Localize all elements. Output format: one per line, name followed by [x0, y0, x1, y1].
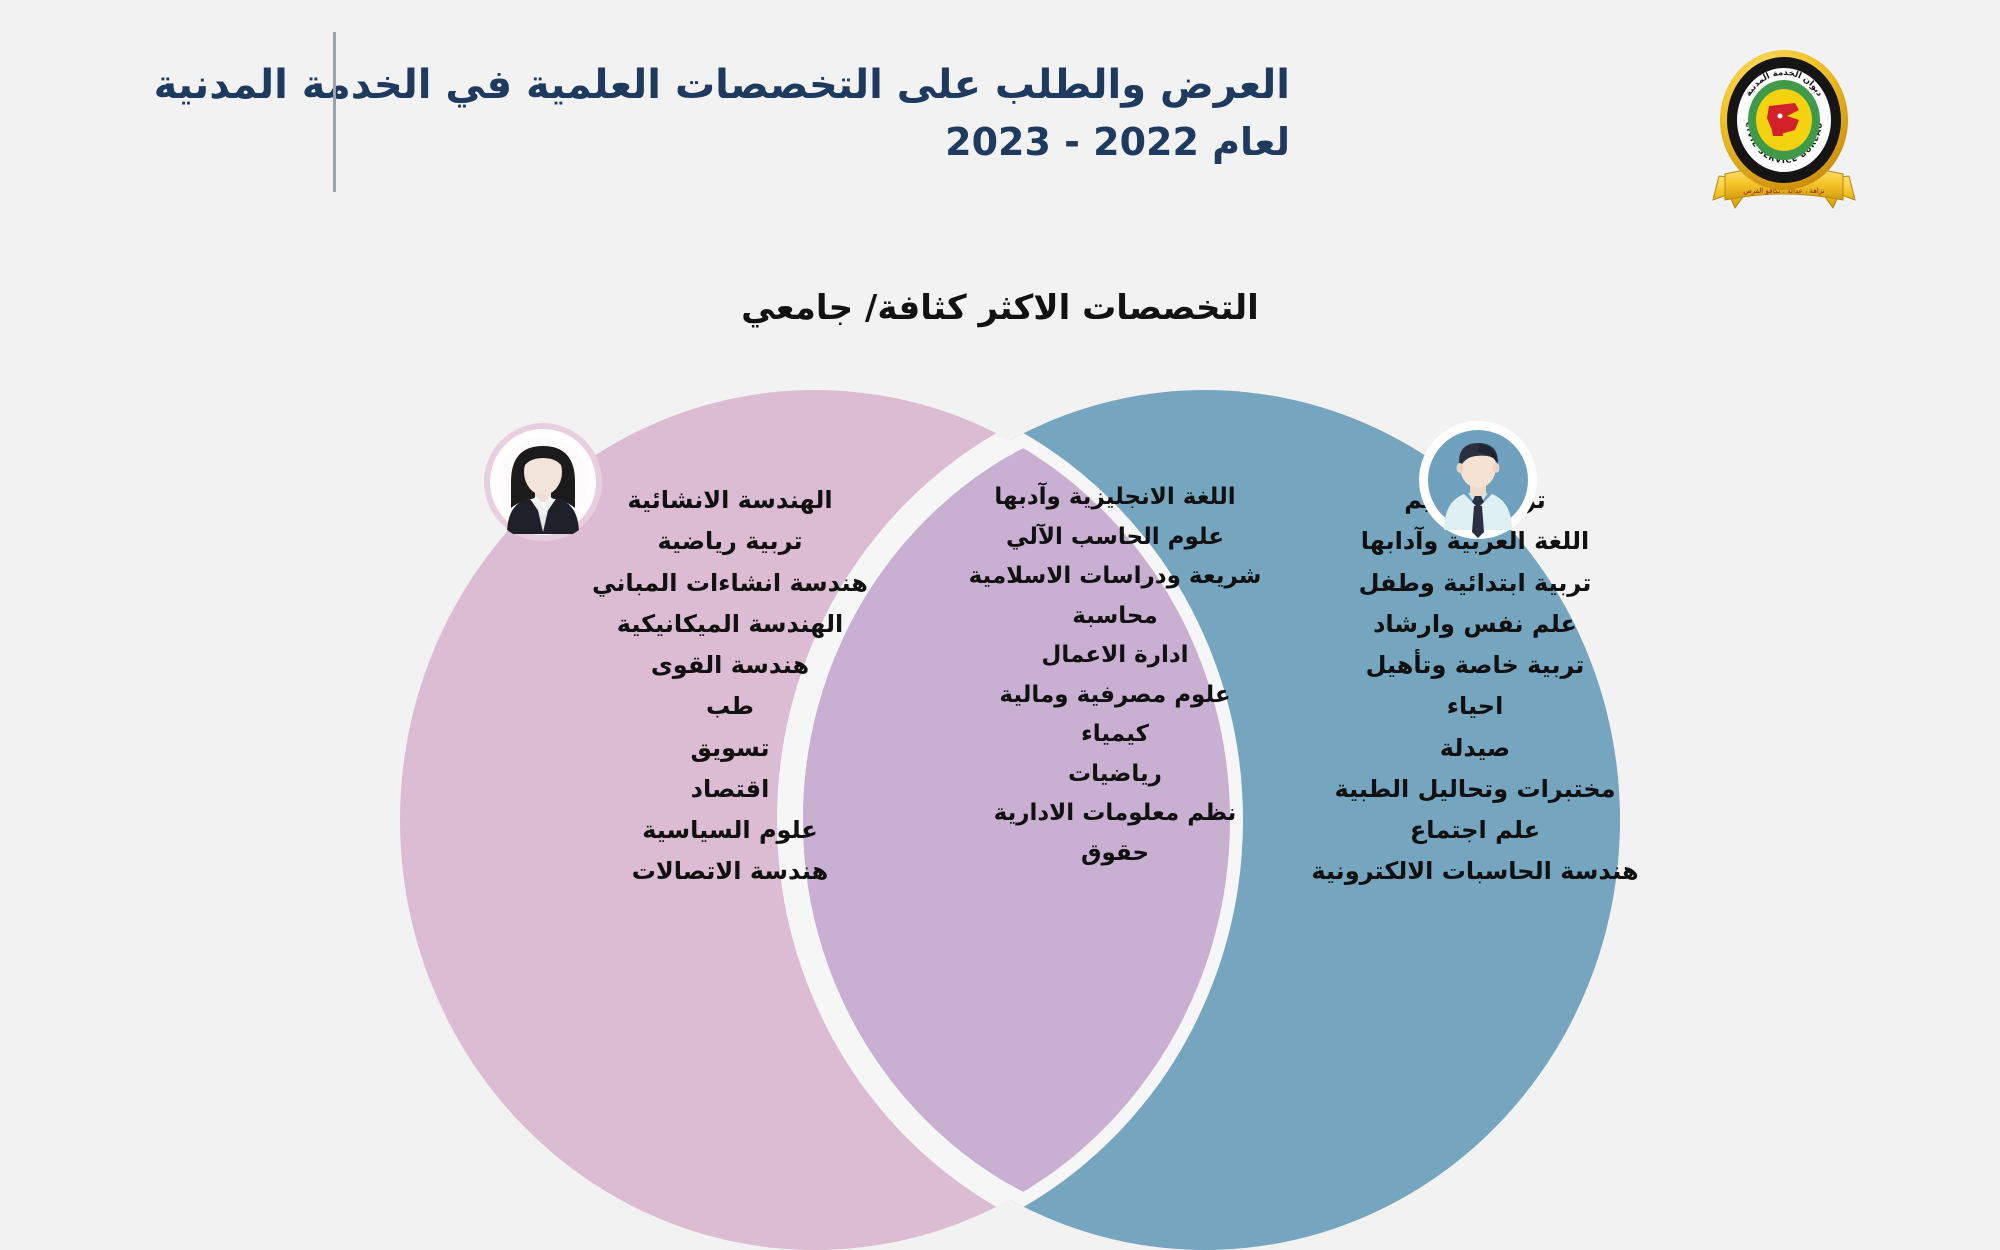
list-item: اقتصاد: [530, 769, 930, 810]
list-item: كيمياء: [965, 715, 1265, 755]
page-subtitle-year: لعام 2022 - 2023: [290, 118, 1290, 167]
male-avatar: [1418, 420, 1538, 540]
list-item: علم نفس وارشاد: [1265, 604, 1685, 645]
venn-left-list: تربية وتعليم اللغة العربية وآدابها تربية…: [1265, 480, 1685, 893]
list-item: الهندسة الميكانيكية: [530, 604, 930, 645]
list-item: حقوق: [965, 834, 1265, 874]
list-item: هندسة الحاسبات الالكترونية: [1265, 851, 1685, 892]
list-item: نظم معلومات الادارية: [965, 794, 1265, 834]
page-header: العرض والطلب على التخصصات العلمية في الخ…: [0, 0, 2000, 250]
section-heading: التخصصات الاكثر كثافة/ جامعي: [0, 288, 2000, 328]
list-item: هندسة القوى: [530, 645, 930, 686]
list-item: محاسبة: [965, 597, 1265, 637]
list-item: ادارة الاعمال: [965, 636, 1265, 676]
list-item: علوم الحاسب الآلي: [965, 518, 1265, 558]
female-avatar: [483, 422, 603, 542]
list-item: علم اجتماع: [1265, 810, 1685, 851]
list-item: تربية رياضية: [530, 521, 930, 562]
civil-service-bureau-logo: نزاهة ، عدالة ، تكافؤ الفرص ديوان الخدمة…: [1695, 48, 1873, 223]
list-item: علوم مصرفية ومالية: [965, 676, 1265, 716]
list-item: هندسة انشاءات المباني: [530, 563, 930, 604]
list-item: رياضيات: [965, 755, 1265, 795]
list-item: مختبرات وتحاليل الطبية: [1265, 769, 1685, 810]
venn-diagram: تربية وتعليم اللغة العربية وآدابها تربية…: [300, 390, 1720, 1250]
list-item: هندسة الاتصالات: [530, 851, 930, 892]
venn-overlap-list: اللغة الانجليزية وآدبها علوم الحاسب الآل…: [965, 478, 1265, 873]
list-item: تسويق: [530, 728, 930, 769]
venn-right-list: الهندسة الانشائية تربية رياضية هندسة انش…: [530, 480, 930, 893]
list-item: علوم السياسية: [530, 810, 930, 851]
list-item: صيدلة: [1265, 728, 1685, 769]
header-text-block: العرض والطلب على التخصصات العلمية في الخ…: [290, 60, 1290, 167]
list-item: تربية ابتدائية وطفل: [1265, 563, 1685, 604]
list-item: شريعة ودراسات الاسلامية: [965, 557, 1265, 597]
header-divider: [333, 32, 336, 192]
list-item: تربية خاصة وتأهيل: [1265, 645, 1685, 686]
list-item: طب: [530, 686, 930, 727]
page-title: العرض والطلب على التخصصات العلمية في الخ…: [290, 60, 1290, 110]
list-item: احياء: [1265, 686, 1685, 727]
list-item: اللغة الانجليزية وآدبها: [965, 478, 1265, 518]
